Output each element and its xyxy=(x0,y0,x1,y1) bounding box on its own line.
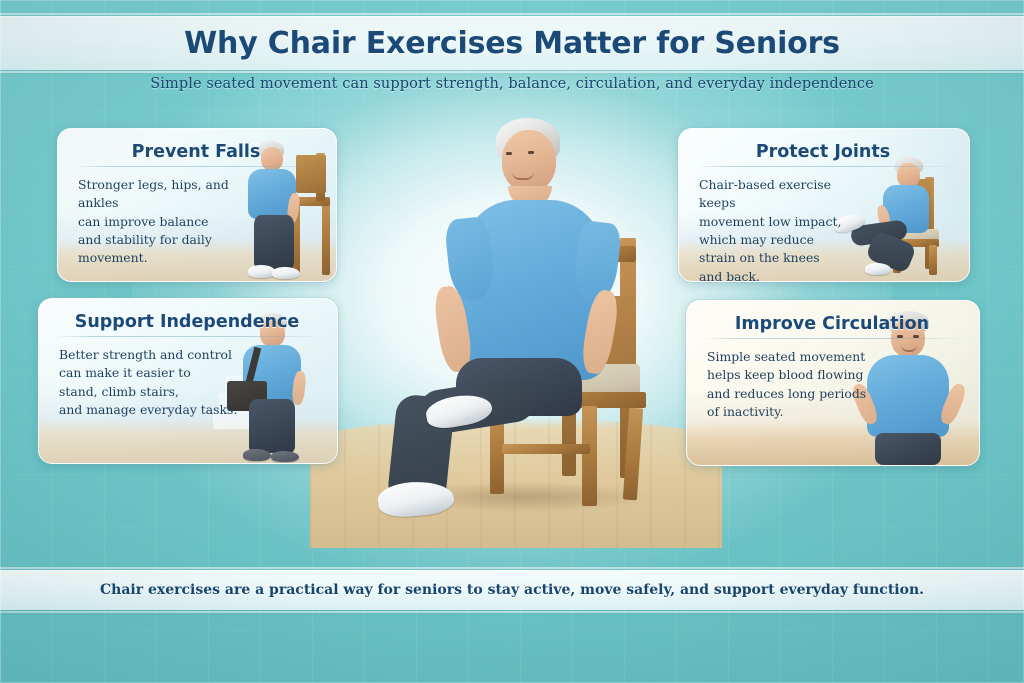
chair-stretcher-rail xyxy=(502,444,590,454)
infographic-poster: Why Chair Exercises Matter for Seniors S… xyxy=(0,0,1024,683)
page-subtitle: Simple seated movement can support stren… xyxy=(0,76,1024,92)
card-support-independence[interactable]: Support Independence Better strength and… xyxy=(38,298,338,464)
title-band: Why Chair Exercises Matter for Seniors xyxy=(0,16,1024,70)
mini-shoe-right xyxy=(271,451,299,462)
card-title-improve-circulation: Improve Circulation xyxy=(707,314,963,334)
page-title: Why Chair Exercises Matter for Seniors xyxy=(184,26,840,61)
hero-illustration xyxy=(330,96,702,548)
footer-text: Chair exercises are a practical way for … xyxy=(100,582,924,598)
footer-band: Chair exercises are a practical way for … xyxy=(0,570,1024,610)
chair-front-right-leg xyxy=(582,406,597,506)
card-protect-joints[interactable]: Protect Joints Chair-based exercise keep… xyxy=(678,128,970,282)
card-body-improve-circulation: Simple seated movement helps keep blood … xyxy=(707,348,882,421)
hero-head xyxy=(502,130,556,192)
mini-pants xyxy=(875,433,941,465)
card-title-support-independence: Support Independence xyxy=(59,312,321,332)
card-body-support-independence: Better strength and control can make it … xyxy=(59,346,274,419)
hero-figure-seated-man xyxy=(330,96,702,548)
card-divider xyxy=(699,166,953,167)
card-title-protect-joints: Protect Joints xyxy=(699,142,953,162)
card-divider xyxy=(707,338,963,339)
hero-eye-left xyxy=(506,152,512,155)
card-prevent-falls[interactable]: Prevent Falls Stronger legs, hips, and a… xyxy=(57,128,337,282)
card-divider xyxy=(78,166,320,167)
mini-shoe-left xyxy=(243,449,271,461)
hero-eye-right xyxy=(528,151,534,154)
card-improve-circulation[interactable]: Improve Circulation Simple seated moveme… xyxy=(686,300,980,466)
card-title-prevent-falls: Prevent Falls xyxy=(78,142,320,162)
card-body-protect-joints: Chair-based exercise keeps movement low … xyxy=(699,176,869,282)
card-divider xyxy=(59,336,321,337)
card-body-prevent-falls: Stronger legs, hips, and ankles can impr… xyxy=(78,176,273,268)
